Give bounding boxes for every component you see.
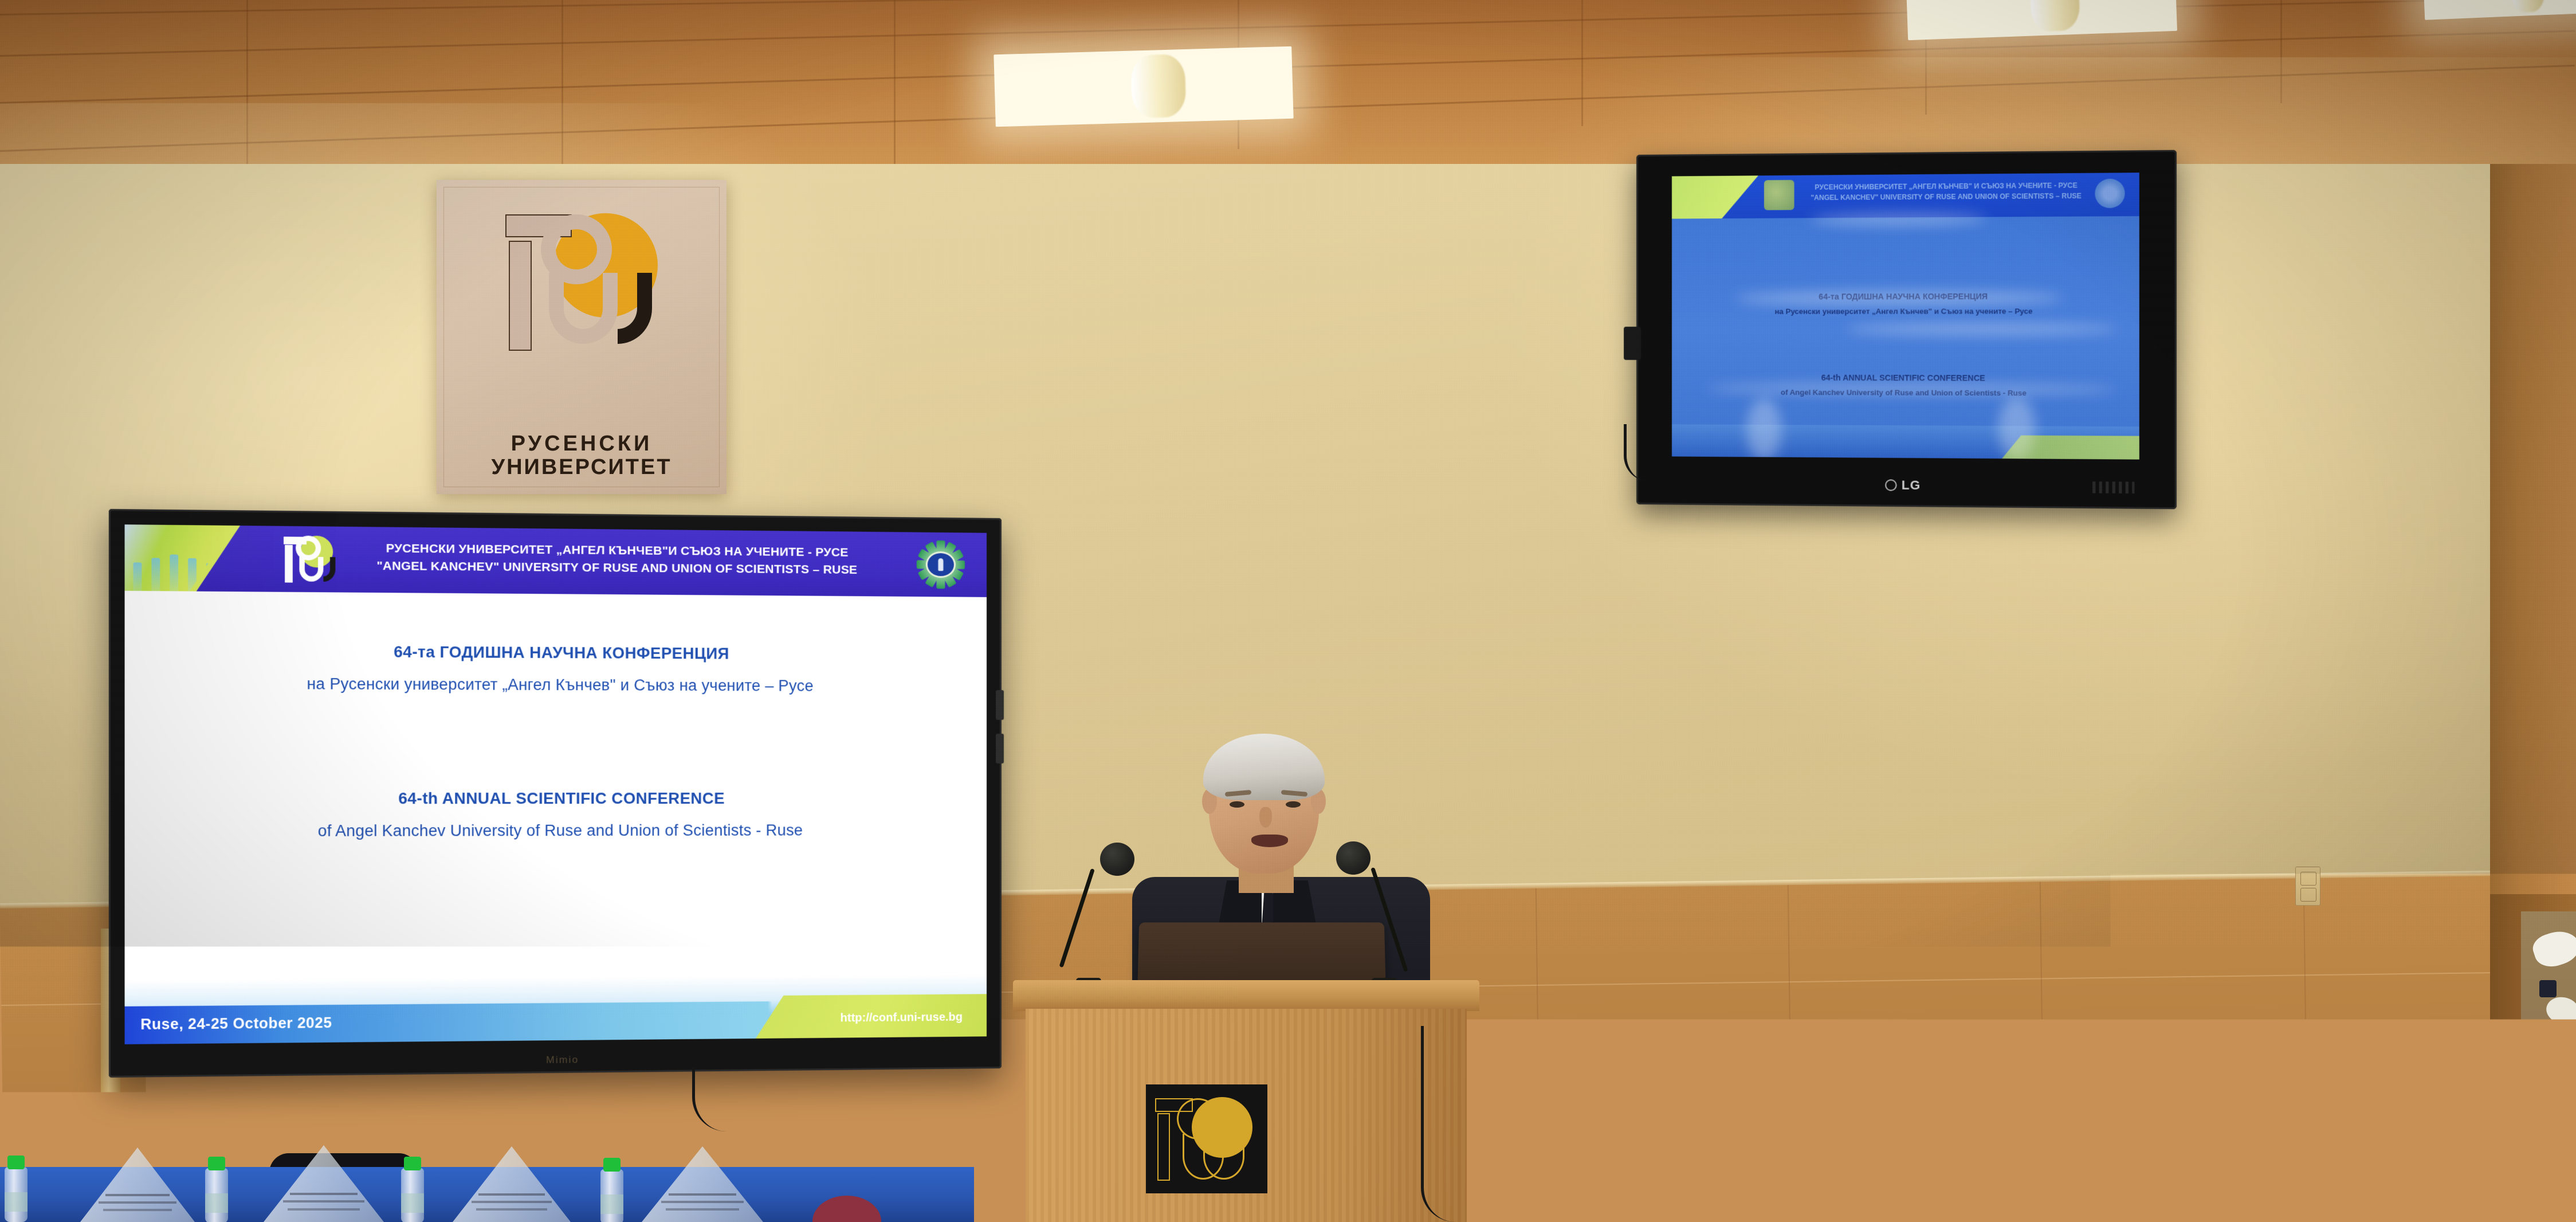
- ruse-university-wall-sign: РУСЕНСКИ УНИВЕРСИТЕТ: [437, 180, 727, 494]
- lg-mark-icon: [1885, 479, 1896, 491]
- tv-slide: РУСЕНСКИ УНИВЕРСИТЕТ „АНГЕЛ КЪНЧЕВ" И СЪ…: [1672, 173, 2139, 459]
- slide-footer-date: Ruse, 24-25 October 2025: [140, 1015, 332, 1033]
- name-tent-card: [453, 1146, 571, 1222]
- union-of-scientists-emblem-icon: [914, 538, 967, 592]
- slide-bg-subtitle: на Русенски университет „Ангел Кънчев" и…: [125, 674, 987, 696]
- name-tent-card: [80, 1147, 195, 1222]
- hair: [1203, 734, 1325, 800]
- sign-line-2: УНИВЕРСИТЕТ: [437, 456, 727, 479]
- panel-table-area: [0, 1141, 974, 1222]
- water-bottle: [205, 1168, 228, 1222]
- name-tent-card: [264, 1145, 384, 1222]
- speaker-lectern: [1026, 980, 1467, 1222]
- sign-line-1: РУСЕНСКИ: [437, 432, 727, 456]
- bottle-cap: [7, 1156, 25, 1169]
- tv-slide-header-text: РУСЕНСКИ УНИВЕРСИТЕТ „АНГЕЛ КЪНЧЕВ" И СЪ…: [1811, 180, 2082, 203]
- bottle-cap: [208, 1157, 225, 1170]
- nose: [1259, 807, 1272, 828]
- water-bottle: [600, 1169, 623, 1222]
- bottle-cap: [404, 1157, 421, 1170]
- right-alcove: [2521, 911, 2576, 1222]
- name-tent-card: [642, 1146, 763, 1222]
- tv-slide-footer: [1672, 424, 2139, 459]
- slide-header-text: РУСЕНСКИ УНИВЕРСИТЕТ „АНГЕЛ КЪНЧЕВ"И СЪЮ…: [355, 540, 878, 580]
- flower-arrangement: [2522, 1056, 2575, 1188]
- display-side-button[interactable]: [996, 690, 1004, 720]
- bottle-cap: [603, 1158, 621, 1172]
- lectern-logo-plaque: [1146, 1084, 1267, 1193]
- slide-en-title: 64-th ANNUAL SCIENTIFIC CONFERENCE: [125, 790, 987, 808]
- tv-bg-subtitle: на Русенски университет „Ангел Кънчев" и…: [1672, 307, 2139, 316]
- slide-title-english: 64-th ANNUAL SCIENTIFIC CONFERENCE of An…: [125, 790, 987, 841]
- slide-en-subtitle: of Angel Kanchev University of Ruse and …: [125, 821, 987, 841]
- tv-slide-body: 64-та ГОДИШНА НАУЧНА КОНФЕРЕНЦИЯ на Русе…: [1672, 216, 2139, 426]
- ru-logo-icon: [505, 211, 666, 360]
- wall-mounted-tv[interactable]: РУСЕНСКИ УНИВЕРСИТЕТ „АНГЕЛ КЪНЧЕВ" И СЪ…: [1636, 150, 2177, 510]
- main-presentation-display[interactable]: РУСЕНСКИ УНИВЕРСИТЕТ „АНГЕЛ КЪНЧЕВ"И СЪЮ…: [109, 509, 1002, 1078]
- tv-control-panel[interactable]: [2092, 481, 2134, 493]
- microphone-capsule: [1100, 843, 1134, 876]
- tv-en-title: 64-th ANNUAL SCIENTIFIC CONFERENCE: [1672, 373, 2139, 383]
- tv-brand-label: LG: [1902, 477, 1921, 493]
- slide-title-bulgarian: 64-та ГОДИШНА НАУЧНА КОНФЕРЕНЦИЯ на Русе…: [125, 642, 987, 696]
- slide-bg-title: 64-та ГОДИШНА НАУЧНА КОНФЕРЕНЦИЯ: [125, 642, 987, 664]
- water-bottle: [5, 1167, 28, 1222]
- ru-logo-icon: [284, 534, 334, 584]
- presentation-slide: РУСЕНСКИ УНИВЕРСИТЕТ „АНГЕЛ КЪНЧЕВ"И СЪЮ…: [125, 524, 987, 1044]
- wall-power-outlet[interactable]: [2295, 867, 2320, 906]
- tv-slide-header-accent: [1672, 175, 1758, 218]
- tv-header-line-en: "ANGEL KANCHEV" UNIVERSITY OF RUSE AND U…: [1811, 191, 2082, 203]
- eye: [1286, 801, 1301, 808]
- ceiling-light-panel: [994, 46, 1293, 127]
- slide-footer-url[interactable]: http://conf.uni-ruse.bg: [841, 1011, 963, 1025]
- ru-logo-icon: [1764, 180, 1794, 210]
- eye: [1230, 801, 1244, 808]
- microphone-capsule: [1336, 841, 1371, 875]
- display-brand-label: Mimio: [546, 1054, 579, 1066]
- slide-header-line-en: "ANGEL KANCHEV" UNIVERSITY OF RUSE AND U…: [355, 558, 878, 579]
- tv-wall-mount: [1624, 327, 1641, 360]
- tv-screen[interactable]: РУСЕНСКИ УНИВЕРСИТЕТ „АНГЕЛ КЪНЧЕВ" И СЪ…: [1672, 173, 2139, 459]
- lectern-top: [1013, 980, 1479, 1011]
- sign-text: РУСЕНСКИ УНИВЕРСИТЕТ: [437, 432, 727, 479]
- water-bottle: [401, 1168, 424, 1222]
- display-screen[interactable]: РУСЕНСКИ УНИВЕРСИТЕТ „АНГЕЛ КЪНЧЕВ"И СЪЮ…: [125, 524, 987, 1044]
- ceiling: [0, 0, 2576, 172]
- mouth: [1251, 835, 1288, 847]
- microphone-gooseneck: [1371, 867, 1408, 972]
- tv-slide-header: РУСЕНСКИ УНИВЕРСИТЕТ „АНГЕЛ КЪНЧЕВ" И СЪ…: [1672, 173, 2139, 218]
- slide-footer: Ruse, 24-25 October 2025 http://conf.uni…: [125, 974, 987, 1044]
- lectern-cable: [1421, 1026, 1464, 1222]
- union-of-scientists-emblem-icon: [2095, 179, 2125, 209]
- slide-body: 64-та ГОДИШНА НАУЧНА КОНФЕРЕНЦИЯ на Русе…: [125, 591, 987, 981]
- slide-header: РУСЕНСКИ УНИВЕРСИТЕТ „АНГЕЛ КЪНЧЕВ"И СЪЮ…: [125, 524, 987, 597]
- display-side-button[interactable]: [996, 734, 1004, 763]
- conference-hall-photo: РУСЕНСКИ УНИВЕРСИТЕТ: [0, 0, 2576, 1222]
- ru-logo-icon: [1155, 1094, 1258, 1184]
- tv-brand-logo: LG: [1885, 477, 1921, 493]
